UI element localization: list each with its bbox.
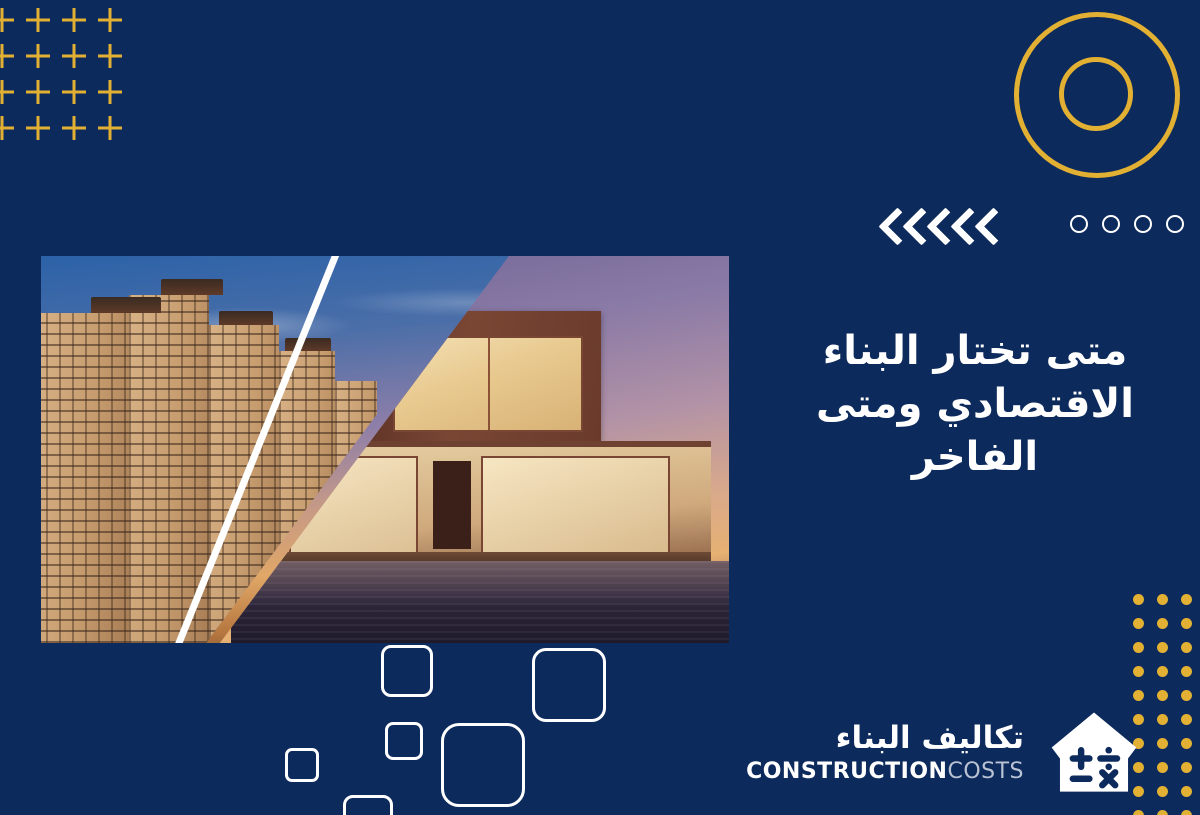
plus-icon (56, 110, 92, 146)
dot-icon (1179, 736, 1200, 760)
plus-icon (0, 74, 20, 110)
plus-icon (92, 74, 128, 110)
diagonal-divider (41, 256, 729, 643)
dot-icon (1131, 592, 1155, 616)
rounded-square-outline-icon (385, 722, 423, 760)
brand-name-english-secondary: COSTS (947, 759, 1024, 784)
plus-icon (92, 2, 128, 38)
circle-outline-icon (1166, 215, 1184, 233)
dot-icon (1179, 640, 1200, 664)
rounded-square-outline-icon (532, 648, 606, 722)
dot-grid-decoration (1131, 592, 1200, 815)
hero-photo (41, 256, 729, 643)
dot-icon (1155, 592, 1179, 616)
plus-icon (0, 110, 20, 146)
mini-circle-group-decoration (1070, 215, 1184, 233)
dot-icon (1155, 712, 1179, 736)
chevron-left-icon (902, 206, 924, 248)
dot-icon (1155, 808, 1179, 815)
dot-icon (1179, 784, 1200, 808)
chevron-group-decoration (878, 206, 996, 248)
circle-outline-icon (1070, 215, 1088, 233)
brand-logo[interactable]: تكاليف البناء CONSTRUCTIONCOSTS (700, 700, 1140, 805)
plus-icon (20, 2, 56, 38)
plus-icon (56, 74, 92, 110)
chevron-left-icon (878, 206, 900, 248)
poster-canvas: متى تختار البناء الاقتصادي ومتى الفاخر (0, 0, 1200, 815)
brand-name-english-primary: CONSTRUCTION (746, 759, 947, 784)
dot-icon (1155, 736, 1179, 760)
dot-icon (1155, 760, 1179, 784)
plus-icon (92, 38, 128, 74)
dot-icon (1155, 640, 1179, 664)
chevron-left-icon (950, 206, 972, 248)
dot-icon (1131, 664, 1155, 688)
dot-icon (1179, 616, 1200, 640)
dot-icon (1155, 784, 1179, 808)
plus-icon (0, 2, 20, 38)
chevron-left-icon (974, 206, 996, 248)
rounded-square-outline-icon (343, 795, 393, 815)
plus-icon (92, 110, 128, 146)
circle-outline-icon (1134, 215, 1152, 233)
dot-icon (1155, 664, 1179, 688)
dot-icon (1179, 664, 1200, 688)
dot-icon (1179, 712, 1200, 736)
dot-icon (1179, 592, 1200, 616)
brand-name-english: CONSTRUCTIONCOSTS (746, 759, 1024, 784)
dot-icon (1131, 640, 1155, 664)
plus-icon (20, 110, 56, 146)
dot-icon (1179, 688, 1200, 712)
concentric-circles-decoration (1014, 12, 1182, 180)
dot-icon (1155, 616, 1179, 640)
diagonal-line (116, 256, 355, 643)
brand-name-arabic: تكاليف البناء (746, 721, 1024, 755)
plus-grid-decoration (0, 2, 128, 146)
dot-icon (1131, 808, 1155, 815)
plus-icon (56, 2, 92, 38)
plus-icon (20, 74, 56, 110)
rounded-square-outline-icon (285, 748, 319, 782)
inner-ring-icon (1059, 57, 1133, 131)
dot-icon (1155, 688, 1179, 712)
plus-icon (56, 38, 92, 74)
rounded-square-outline-icon (381, 645, 433, 697)
plus-icon (20, 38, 56, 74)
circle-outline-icon (1102, 215, 1120, 233)
house-with-math-operators-icon (1048, 707, 1140, 799)
brand-logo-text: تكاليف البناء CONSTRUCTIONCOSTS (746, 721, 1024, 784)
plus-icon (0, 38, 20, 74)
rounded-square-outline-icon (441, 723, 525, 807)
chevron-left-icon (926, 206, 948, 248)
dot-icon (1179, 760, 1200, 784)
dot-icon (1179, 808, 1200, 815)
dot-icon (1131, 616, 1155, 640)
page-title: متى تختار البناء الاقتصادي ومتى الفاخر (800, 325, 1150, 485)
